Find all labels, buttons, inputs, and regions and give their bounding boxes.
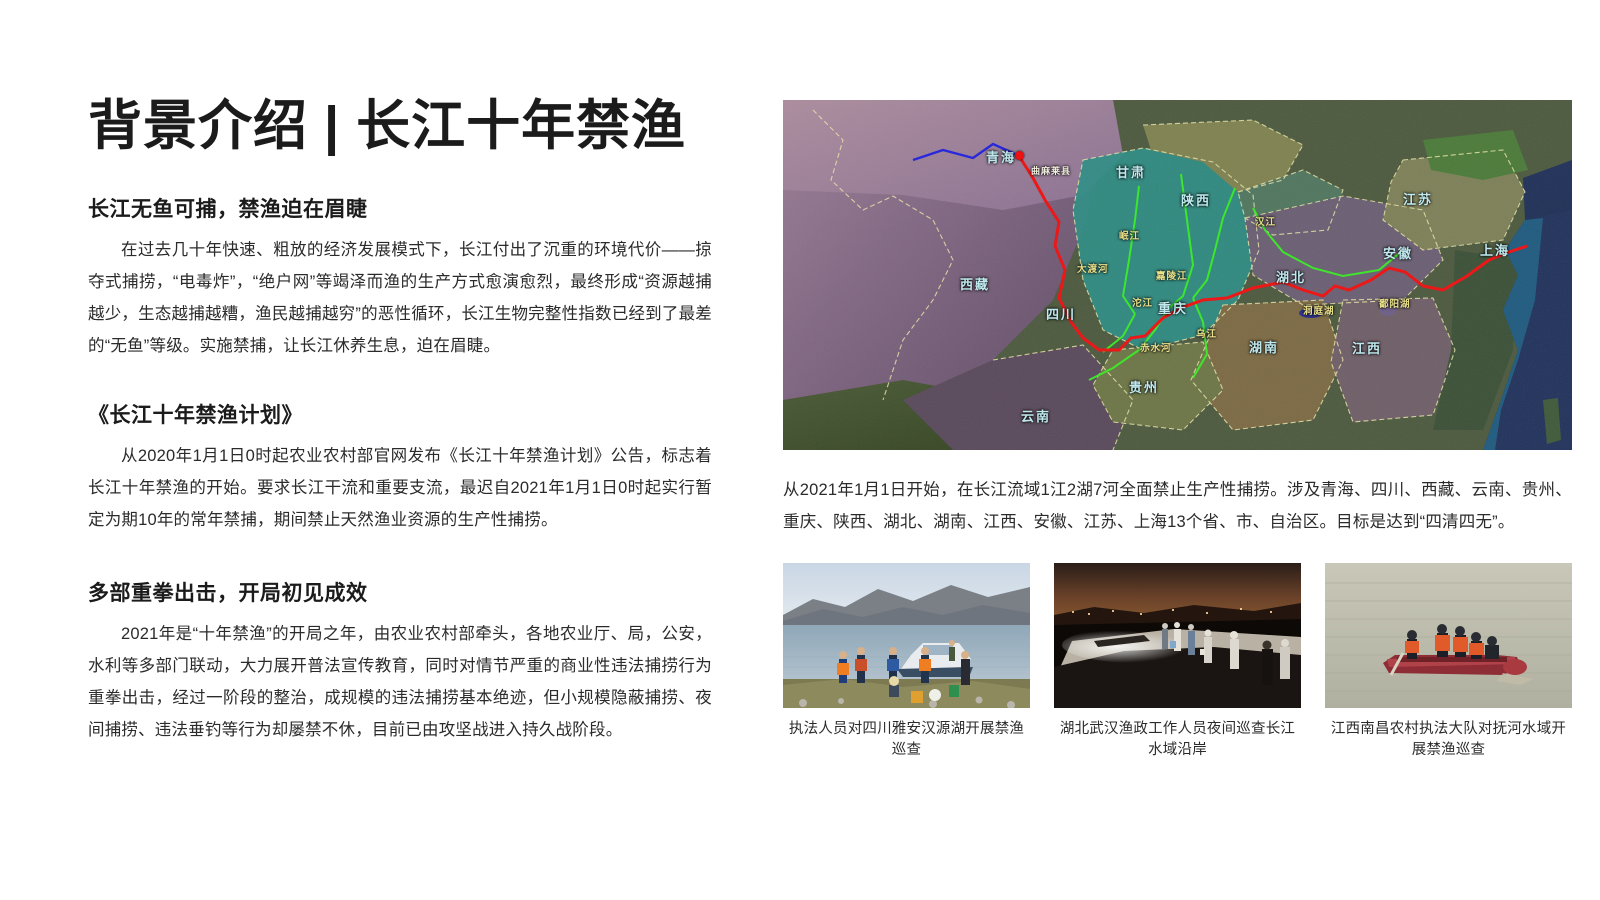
left-content-column: 背景介绍 | 长江十年禁渔 长江无鱼可捕，禁渔迫在眉睫 在过去几十年快速、粗放的… xyxy=(88,96,712,772)
section-heading: 《长江十年禁渔计划》 xyxy=(88,402,712,429)
slide-root: 背景介绍 | 长江十年禁渔 长江无鱼可捕，禁渔迫在眉睫 在过去几十年快速、粗放的… xyxy=(0,0,1600,900)
right-media-column: 青海曲麻莱县甘肃陕西汉江江苏安徽上海西藏岷江大渡河嘉陵江沱江重庆湖北四川洞庭湖鄱… xyxy=(783,100,1572,538)
section-heading: 多部重拳出击，开局初见成效 xyxy=(88,580,712,607)
map-marker-qumalai xyxy=(1015,151,1024,160)
section-body: 在过去几十年快速、粗放的经济发展模式下，长江付出了沉重的环境代价——掠夺式捕捞，… xyxy=(88,234,712,363)
photo-sichuan-hanyuan-lake[interactable] xyxy=(783,563,1030,708)
map-caption: 从2021年1月1日开始，在长江流域1江2湖7河全面禁止生产性捕捞。涉及青海、四… xyxy=(783,474,1572,538)
section-enforcement-results: 多部重拳出击，开局初见成效 2021年是“十年禁渔”的开局之年，由农业农村部牵头… xyxy=(88,580,712,746)
photo-caption: 执法人员对四川雅安汉源湖开展禁渔巡查 xyxy=(783,719,1030,761)
section-ten-year-plan: 《长江十年禁渔计划》 从2020年1月1日0时起农业农村部官网发布《长江十年禁渔… xyxy=(88,402,712,536)
photo-nanchang-fuhe-patrol[interactable] xyxy=(1325,563,1572,708)
photo-wuhan-night-patrol[interactable] xyxy=(1054,563,1301,708)
section-heading: 长江无鱼可捕，禁渔迫在眉睫 xyxy=(88,196,712,223)
section-body: 2021年是“十年禁渔”的开局之年，由农业农村部牵头，各地农业厅、局，公安，水利… xyxy=(88,618,712,747)
map-image xyxy=(783,100,1572,450)
section-fish-depletion: 长江无鱼可捕，禁渔迫在眉睫 在过去几十年快速、粗放的经济发展模式下，长江付出了沉… xyxy=(88,196,712,362)
page-title: 背景介绍 | 长江十年禁渔 xyxy=(88,96,712,156)
photo-gallery: 执法人员对四川雅安汉源湖开展禁渔巡查 xyxy=(783,563,1572,761)
section-body: 从2020年1月1日0时起农业农村部官网发布《长江十年禁渔计划》公告，标志着长江… xyxy=(88,440,712,537)
yangtze-basin-map: 青海曲麻莱县甘肃陕西汉江江苏安徽上海西藏岷江大渡河嘉陵江沱江重庆湖北四川洞庭湖鄱… xyxy=(783,100,1572,450)
photo-card[interactable]: 湖北武汉渔政工作人员夜间巡查长江水域沿岸 xyxy=(1054,563,1301,761)
photo-card[interactable]: 执法人员对四川雅安汉源湖开展禁渔巡查 xyxy=(783,563,1030,761)
photo-caption: 湖北武汉渔政工作人员夜间巡查长江水域沿岸 xyxy=(1054,719,1301,761)
photo-caption: 江西南昌农村执法大队对抚河水域开展禁渔巡查 xyxy=(1325,719,1572,761)
spacer xyxy=(88,562,712,580)
photo-card[interactable]: 江西南昌农村执法大队对抚河水域开展禁渔巡查 xyxy=(1325,563,1572,761)
spacer xyxy=(88,388,712,402)
